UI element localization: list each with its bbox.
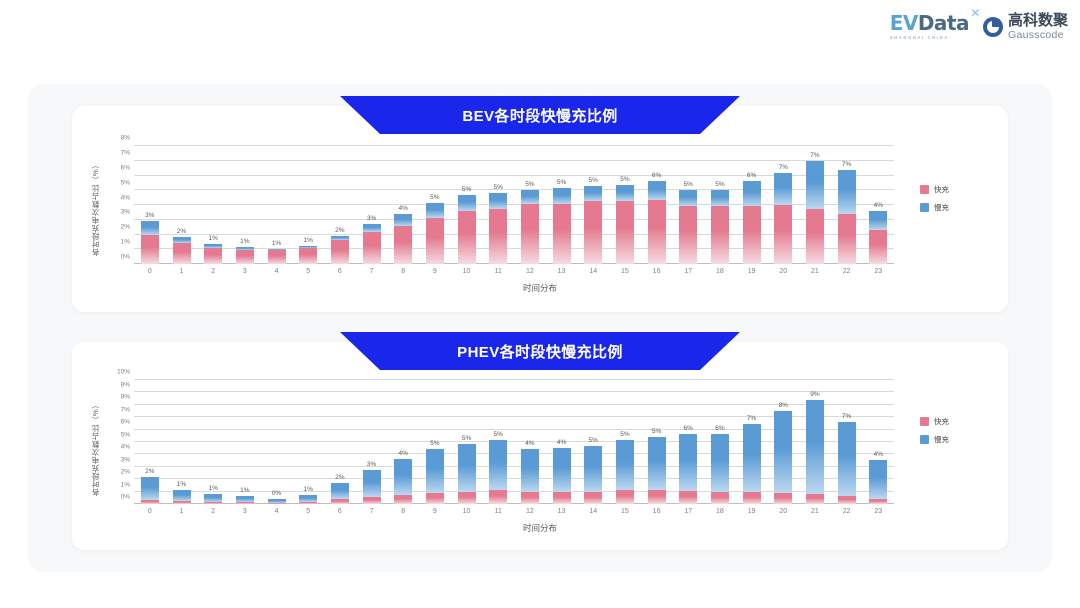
bar-segment-fast-charge[interactable] — [204, 502, 222, 504]
bar-stack[interactable]: 4% — [394, 214, 412, 264]
bar-column[interactable]: 5%16 — [641, 380, 673, 504]
bar-segment-slow-charge[interactable] — [521, 449, 539, 492]
y-axis-tick: 3% — [121, 456, 130, 463]
bar-stack[interactable]: 5% — [426, 449, 444, 504]
bar-segment-fast-charge[interactable] — [141, 500, 159, 504]
bar-segment-slow-charge[interactable] — [584, 446, 602, 491]
bar-value-label: 5% — [494, 431, 503, 438]
x-axis-tick: 14 — [589, 508, 597, 515]
bar-column[interactable]: 5%11 — [482, 146, 514, 264]
bar-segment-slow-charge[interactable] — [489, 193, 507, 208]
bar-column[interactable]: 7%21 — [799, 146, 831, 264]
bar-column[interactable]: 2%6 — [324, 146, 356, 264]
bar-column[interactable]: 5%9 — [419, 146, 451, 264]
chart-block-bev: BEV各时段快慢充比例 各时段充电次数占比（%） 0%1%2%3%4%5%6%7… — [72, 106, 1008, 312]
x-axis-tick: 22 — [843, 508, 851, 515]
bar-segment-slow-charge[interactable] — [838, 422, 856, 496]
bar-segment-slow-charge[interactable] — [141, 221, 159, 235]
bar-value-label: 2% — [335, 474, 344, 481]
x-axis-tick: 0 — [148, 268, 152, 275]
bar-segment-slow-charge[interactable] — [711, 190, 729, 206]
bar-segment-fast-charge[interactable] — [489, 490, 507, 504]
gausscode-mark-icon — [983, 17, 1003, 37]
bar-stack[interactable]: 1% — [268, 249, 286, 264]
bar-stack[interactable]: 5% — [553, 188, 571, 264]
bar-segment-fast-charge[interactable] — [616, 490, 634, 504]
bar-value-label: 2% — [145, 468, 154, 475]
bar-column[interactable]: 7%20 — [767, 146, 799, 264]
bar-value-label: 4% — [525, 440, 534, 447]
bar-stack[interactable]: 1% — [299, 495, 317, 504]
bar-stack[interactable]: 9% — [806, 400, 824, 504]
bar-column[interactable]: 2%6 — [324, 380, 356, 504]
bar-column[interactable]: 6%19 — [736, 146, 768, 264]
bar-segment-slow-charge[interactable] — [838, 170, 856, 214]
bar-stack[interactable]: 5% — [711, 190, 729, 264]
bar-value-label: 5% — [620, 431, 629, 438]
bar-column[interactable]: 1%5 — [292, 146, 324, 264]
bar-segment-fast-charge[interactable] — [331, 499, 349, 504]
bar-segment-fast-charge[interactable] — [679, 491, 697, 504]
bar-value-label: 1% — [240, 487, 249, 494]
bar-segment-slow-charge[interactable] — [426, 203, 444, 218]
bar-stack[interactable]: 3% — [141, 221, 159, 264]
x-axis-tick: 1 — [180, 268, 184, 275]
bar-segment-slow-charge[interactable] — [458, 195, 476, 211]
bar-value-label: 7% — [842, 413, 851, 420]
bar-segment-fast-charge[interactable] — [426, 493, 444, 504]
bar-stack[interactable]: 5% — [458, 444, 476, 504]
bar-stack[interactable]: 5% — [584, 186, 602, 264]
bar-segment-fast-charge[interactable] — [679, 206, 697, 264]
bar-segment-fast-charge[interactable] — [743, 492, 761, 504]
x-axis-tick: 19 — [748, 508, 756, 515]
bar-value-label: 5% — [462, 186, 471, 193]
bar-segment-fast-charge[interactable] — [743, 206, 761, 264]
bar-segment-fast-charge[interactable] — [553, 204, 571, 264]
bar-stack[interactable]: 1% — [236, 247, 254, 264]
bar-stack[interactable]: 5% — [616, 185, 634, 264]
y-axis-tick: 3% — [121, 209, 130, 216]
bar-column[interactable]: 3%7 — [356, 380, 388, 504]
bar-column[interactable]: 1%3 — [229, 146, 261, 264]
bar-segment-slow-charge[interactable] — [679, 434, 697, 491]
x-axis-tick: 16 — [653, 268, 661, 275]
bar-segment-slow-charge[interactable] — [679, 190, 697, 206]
bar-column[interactable]: 5%18 — [704, 146, 736, 264]
bar-segment-slow-charge[interactable] — [426, 449, 444, 493]
x-axis-tick: 8 — [401, 268, 405, 275]
x-axis-tick: 22 — [843, 268, 851, 275]
bar-segment-fast-charge[interactable] — [648, 490, 666, 504]
content-card: BEV各时段快慢充比例 各时段充电次数占比（%） 0%1%2%3%4%5%6%7… — [28, 84, 1052, 572]
bar-value-label: 4% — [399, 205, 408, 212]
bar-stack[interactable]: 2% — [331, 483, 349, 504]
bar-segment-slow-charge[interactable] — [521, 190, 539, 205]
bar-value-label: 4% — [557, 439, 566, 446]
legend-item[interactable]: 慢充 — [920, 202, 949, 213]
x-axis-tick: 14 — [589, 268, 597, 275]
bar-segment-fast-charge[interactable] — [236, 502, 254, 504]
bar-segment-slow-charge[interactable] — [489, 440, 507, 490]
bar-segment-slow-charge[interactable] — [743, 181, 761, 205]
evdata-logo-subtitle: SHANGHAI CHINA — [890, 35, 949, 40]
evdata-logo-data: Data — [918, 11, 969, 35]
bar-value-label: 5% — [494, 184, 503, 191]
bar-column[interactable]: 1%2 — [197, 380, 229, 504]
bar-segment-fast-charge[interactable] — [394, 495, 412, 504]
bar-column[interactable]: 6%17 — [672, 380, 704, 504]
bar-value-label: 1% — [272, 240, 281, 247]
bar-value-label: 1% — [240, 238, 249, 245]
bar-stack[interactable]: 5% — [489, 193, 507, 264]
header-logos: EVData✕ SHANGHAI CHINA 高科数聚 Gausscode — [890, 13, 1068, 41]
bar-stack[interactable]: 7% — [743, 424, 761, 504]
bar-column[interactable]: 9%21 — [799, 380, 831, 504]
x-axis-title-bev: 时间分布 — [72, 282, 1008, 294]
bar-segment-slow-charge[interactable] — [648, 181, 666, 200]
y-axis-tick: 1% — [121, 481, 130, 488]
x-axis-tick: 20 — [779, 508, 787, 515]
bar-column[interactable]: 2%1 — [166, 146, 198, 264]
bar-value-label: 3% — [145, 212, 154, 219]
bar-segment-fast-charge[interactable] — [458, 211, 476, 264]
bar-value-label: 7% — [810, 152, 819, 159]
legend-item[interactable]: 快充 — [920, 416, 949, 427]
bar-column[interactable]: 5%9 — [419, 380, 451, 504]
bar-value-label: 4% — [874, 202, 883, 209]
bar-value-label: 6% — [747, 172, 756, 179]
bar-segment-fast-charge[interactable] — [869, 499, 887, 504]
bar-stack[interactable]: 5% — [521, 190, 539, 264]
bar-stack[interactable]: 5% — [426, 203, 444, 264]
bar-segment-fast-charge[interactable] — [299, 502, 317, 504]
bar-value-label: 9% — [810, 391, 819, 398]
y-axis-tick: 9% — [121, 381, 130, 388]
x-axis-tick: 7 — [370, 268, 374, 275]
y-axis-tick: 1% — [121, 239, 130, 246]
y-axis-tick: 10% — [117, 369, 130, 376]
bar-value-label: 6% — [684, 425, 693, 432]
bar-column[interactable]: 7%22 — [831, 380, 863, 504]
bar-stack[interactable]: 7% — [838, 422, 856, 504]
bar-value-label: 1% — [303, 486, 312, 493]
bar-stack[interactable]: 0% — [268, 499, 286, 504]
y-axis-title-bev: 各时段充电次数占比（%） — [90, 140, 101, 256]
legend-label: 快充 — [934, 184, 949, 195]
bar-segment-fast-charge[interactable] — [711, 206, 729, 264]
bar-segment-fast-charge[interactable] — [774, 493, 792, 504]
bar-segment-fast-charge[interactable] — [268, 250, 286, 264]
bar-value-label: 5% — [462, 435, 471, 442]
bar-segment-fast-charge[interactable] — [489, 209, 507, 264]
bar-column[interactable]: 4%8 — [387, 146, 419, 264]
x-axis-tick: 9 — [433, 268, 437, 275]
bar-column[interactable]: 3%7 — [356, 146, 388, 264]
bar-segment-fast-charge[interactable] — [394, 226, 412, 264]
y-axis-tick: 0% — [121, 254, 130, 261]
bar-value-label: 5% — [589, 177, 598, 184]
bar-segment-fast-charge[interactable] — [299, 248, 317, 264]
bar-value-label: 6% — [652, 172, 661, 179]
legend-swatch-icon — [920, 417, 929, 426]
bar-column[interactable]: 8%20 — [767, 380, 799, 504]
bar-stack[interactable]: 2% — [331, 236, 349, 264]
bar-segment-slow-charge[interactable] — [173, 490, 191, 501]
bar-segment-fast-charge[interactable] — [236, 250, 254, 264]
bar-segment-fast-charge[interactable] — [584, 201, 602, 264]
bar-column[interactable]: 5%14 — [577, 146, 609, 264]
x-axis-tick: 0 — [148, 508, 152, 515]
bar-segment-slow-charge[interactable] — [616, 185, 634, 200]
bar-stack[interactable]: 7% — [838, 170, 856, 264]
x-axis-tick: 12 — [526, 508, 534, 515]
bar-segment-fast-charge[interactable] — [173, 243, 191, 264]
bar-column[interactable]: 4%8 — [387, 380, 419, 504]
bar-group: 2%01%11%21%30%41%52%63%74%85%95%105%114%… — [134, 380, 894, 504]
x-axis-tick: 6 — [338, 508, 342, 515]
chart-block-phev: PHEV各时段快慢充比例 各时段充电次数占比（%） 0%1%2%3%4%5%6%… — [72, 342, 1008, 550]
bar-segment-fast-charge[interactable] — [648, 200, 666, 264]
bar-value-label: 4% — [874, 451, 883, 458]
bar-value-label: 5% — [589, 437, 598, 444]
x-axis-tick: 11 — [495, 508, 502, 515]
bar-column[interactable]: 7%19 — [736, 380, 768, 504]
bar-column[interactable]: 5%10 — [451, 146, 483, 264]
bar-stack[interactable]: 1% — [236, 496, 254, 504]
bar-column[interactable]: 4%13 — [546, 380, 578, 504]
x-axis-tick: 12 — [526, 268, 534, 275]
bar-stack[interactable]: 6% — [743, 181, 761, 264]
bar-segment-slow-charge[interactable] — [299, 495, 317, 502]
bar-segment-fast-charge[interactable] — [869, 230, 887, 264]
bar-column[interactable]: 4%23 — [862, 380, 894, 504]
bar-segment-fast-charge[interactable] — [363, 232, 381, 264]
x-axis-tick: 4 — [275, 508, 279, 515]
bar-stack[interactable]: 5% — [648, 437, 666, 504]
bar-segment-fast-charge[interactable] — [553, 492, 571, 504]
bar-column[interactable]: 2%0 — [134, 380, 166, 504]
bar-value-label: 5% — [620, 176, 629, 183]
bar-segment-slow-charge[interactable] — [553, 448, 571, 492]
bar-segment-slow-charge[interactable] — [869, 460, 887, 498]
bar-stack[interactable]: 5% — [584, 446, 602, 504]
bar-segment-fast-charge[interactable] — [331, 240, 349, 264]
x-axis-tick: 19 — [748, 268, 756, 275]
bar-stack[interactable]: 2% — [173, 237, 191, 264]
bar-segment-fast-charge[interactable] — [584, 492, 602, 504]
bar-value-label: 5% — [557, 179, 566, 186]
x-axis-tick: 13 — [558, 268, 566, 275]
x-axis-tick: 23 — [874, 508, 882, 515]
gausscode-logo-cn: 高科数聚 — [1008, 13, 1068, 28]
bar-stack[interactable]: 5% — [616, 440, 634, 504]
bar-segment-fast-charge[interactable] — [806, 209, 824, 264]
bar-stack[interactable]: 4% — [869, 211, 887, 264]
x-axis-tick: 13 — [558, 508, 566, 515]
bar-column[interactable]: 1%4 — [261, 146, 293, 264]
bar-column[interactable]: 5%12 — [514, 146, 546, 264]
y-axis-tick: 4% — [121, 194, 130, 201]
bar-stack[interactable]: 2% — [141, 477, 159, 504]
bar-stack[interactable]: 7% — [806, 161, 824, 264]
bar-segment-fast-charge[interactable] — [616, 201, 634, 264]
bar-column[interactable]: 5%15 — [609, 146, 641, 264]
y-axis-tick: 8% — [121, 394, 130, 401]
bar-column[interactable]: 5%14 — [577, 380, 609, 504]
x-axis-tick: 10 — [463, 508, 471, 515]
y-axis-tick: 2% — [121, 224, 130, 231]
bar-segment-slow-charge[interactable] — [806, 161, 824, 209]
bar-stack[interactable]: 4% — [394, 459, 412, 504]
bar-column[interactable]: 5%15 — [609, 380, 641, 504]
y-axis-title-phev: 各时段充电次数占比（%） — [90, 372, 101, 496]
x-axis-tick: 15 — [621, 268, 629, 275]
bar-stack[interactable]: 5% — [679, 190, 697, 264]
bar-column[interactable]: 4%12 — [514, 380, 546, 504]
bar-value-label: 8% — [779, 402, 788, 409]
bar-stack[interactable]: 8% — [774, 411, 792, 504]
bar-column[interactable]: 5%13 — [546, 146, 578, 264]
x-axis-tick: 18 — [716, 268, 724, 275]
bar-segment-slow-charge[interactable] — [774, 411, 792, 493]
x-axis-tick: 5 — [306, 508, 310, 515]
gausscode-logo-en: Gausscode — [1008, 30, 1068, 41]
bar-column[interactable]: 6%18 — [704, 380, 736, 504]
bar-segment-slow-charge[interactable] — [774, 173, 792, 205]
bar-value-label: 1% — [208, 485, 217, 492]
evdata-logo-ev: EV — [890, 11, 918, 35]
bar-stack[interactable]: 6% — [711, 434, 729, 504]
slide-page: EVData✕ SHANGHAI CHINA 高科数聚 Gausscode BE… — [0, 0, 1080, 608]
bar-segment-slow-charge[interactable] — [363, 224, 381, 232]
bar-value-label: 1% — [177, 481, 186, 488]
x-axis-tick: 6 — [338, 268, 342, 275]
bar-column[interactable]: 1%3 — [229, 380, 261, 504]
x-axis-tick: 7 — [370, 508, 374, 515]
bar-segment-fast-charge[interactable] — [204, 248, 222, 264]
bar-stack[interactable]: 5% — [458, 195, 476, 264]
bar-stack[interactable]: 4% — [553, 448, 571, 504]
bar-value-label: 3% — [367, 461, 376, 468]
y-axis-tick: 2% — [121, 469, 130, 476]
bar-segment-slow-charge[interactable] — [394, 459, 412, 496]
bar-column[interactable]: 1%1 — [166, 380, 198, 504]
legend-label: 快充 — [934, 416, 949, 427]
x-axis-tick: 21 — [811, 268, 819, 275]
gausscode-logo: 高科数聚 Gausscode — [983, 13, 1068, 41]
bar-column[interactable]: 0%4 — [261, 380, 293, 504]
legend-item[interactable]: 快充 — [920, 184, 949, 195]
bar-value-label: 7% — [842, 161, 851, 168]
bar-column[interactable]: 5%11 — [482, 380, 514, 504]
bar-stack[interactable]: 6% — [648, 181, 666, 264]
bar-stack[interactable]: 7% — [774, 173, 792, 264]
x-axis-tick: 5 — [306, 268, 310, 275]
bar-segment-slow-charge[interactable] — [648, 437, 666, 490]
bar-stack[interactable]: 1% — [299, 246, 317, 264]
bar-segment-slow-charge[interactable] — [711, 434, 729, 492]
bar-segment-slow-charge[interactable] — [806, 400, 824, 494]
bar-segment-fast-charge[interactable] — [173, 501, 191, 504]
bar-segment-slow-charge[interactable] — [553, 188, 571, 203]
y-axis-tick: 5% — [121, 179, 130, 186]
bar-stack[interactable]: 1% — [204, 244, 222, 264]
bar-segment-slow-charge[interactable] — [743, 424, 761, 492]
bar-segment-fast-charge[interactable] — [838, 214, 856, 264]
bar-value-label: 5% — [652, 428, 661, 435]
bar-segment-fast-charge[interactable] — [774, 205, 792, 264]
legend-swatch-icon — [920, 435, 929, 444]
y-axis-tick: 7% — [121, 149, 130, 156]
bar-value-label: 2% — [177, 228, 186, 235]
bar-column[interactable]: 5%10 — [451, 380, 483, 504]
bar-stack[interactable]: 1% — [204, 494, 222, 504]
bar-value-label: 2% — [335, 227, 344, 234]
bar-column[interactable]: 1%5 — [292, 380, 324, 504]
bar-segment-slow-charge[interactable] — [584, 186, 602, 201]
bar-segment-fast-charge[interactable] — [458, 492, 476, 504]
bar-segment-fast-charge[interactable] — [426, 218, 444, 264]
bar-segment-slow-charge[interactable] — [331, 483, 349, 498]
x-axis-tick: 16 — [653, 508, 661, 515]
bar-stack[interactable]: 1% — [173, 490, 191, 504]
bar-column[interactable]: 6%16 — [641, 146, 673, 264]
bar-segment-fast-charge[interactable] — [806, 494, 824, 504]
x-axis-tick: 2 — [211, 508, 215, 515]
bar-stack[interactable]: 6% — [679, 434, 697, 504]
bar-segment-slow-charge[interactable] — [458, 444, 476, 492]
bar-segment-slow-charge[interactable] — [141, 477, 159, 499]
bar-segment-fast-charge[interactable] — [363, 497, 381, 504]
bar-stack[interactable]: 3% — [363, 224, 381, 264]
bar-stack[interactable]: 4% — [869, 460, 887, 504]
legend-swatch-icon — [920, 203, 929, 212]
bar-value-label: 4% — [399, 450, 408, 457]
bar-column[interactable]: 3%0 — [134, 146, 166, 264]
bar-value-label: 3% — [367, 215, 376, 222]
bar-segment-fast-charge[interactable] — [141, 235, 159, 264]
bar-segment-fast-charge[interactable] — [838, 496, 856, 504]
bar-stack[interactable]: 4% — [521, 449, 539, 504]
bar-value-label: 5% — [684, 181, 693, 188]
bar-segment-slow-charge[interactable] — [363, 470, 381, 497]
legend-label: 慢充 — [934, 202, 949, 213]
bar-segment-fast-charge[interactable] — [268, 503, 286, 504]
bar-stack[interactable]: 3% — [363, 470, 381, 504]
x-axis-tick: 8 — [401, 508, 405, 515]
legend-label: 慢充 — [934, 434, 949, 445]
bar-value-label: 5% — [430, 194, 439, 201]
bar-column[interactable]: 4%23 — [862, 146, 894, 264]
legend-item[interactable]: 慢充 — [920, 434, 949, 445]
x-axis-title-phev: 时间分布 — [72, 522, 1008, 534]
y-axis-tick: 6% — [121, 419, 130, 426]
bar-segment-slow-charge[interactable] — [204, 494, 222, 502]
bar-column[interactable]: 1%2 — [197, 146, 229, 264]
x-axis-tick: 11 — [495, 268, 502, 275]
bar-segment-fast-charge[interactable] — [711, 492, 729, 504]
bar-column[interactable]: 5%17 — [672, 146, 704, 264]
gausscode-wordmark: 高科数聚 Gausscode — [1008, 13, 1068, 41]
bar-segment-fast-charge[interactable] — [521, 204, 539, 264]
bar-column[interactable]: 7%22 — [831, 146, 863, 264]
bar-segment-slow-charge[interactable] — [616, 440, 634, 490]
bar-segment-slow-charge[interactable] — [394, 214, 412, 227]
bar-segment-fast-charge[interactable] — [521, 492, 539, 504]
bar-stack[interactable]: 5% — [489, 440, 507, 504]
bar-segment-slow-charge[interactable] — [869, 211, 887, 230]
